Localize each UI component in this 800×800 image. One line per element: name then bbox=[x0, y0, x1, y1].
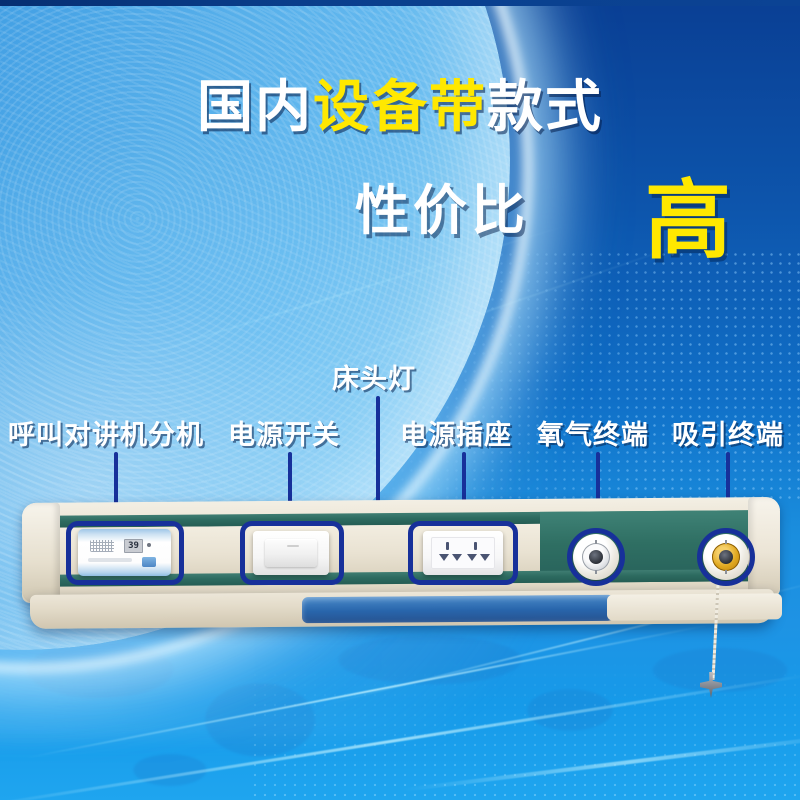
panel-end-cap-left bbox=[22, 503, 60, 603]
headline-part-domestic: 国内 bbox=[197, 75, 313, 138]
highlight-ring-oxygen bbox=[567, 528, 625, 586]
top-edge-bar bbox=[0, 0, 800, 6]
headline-line-2: 性价比 高 bbox=[0, 160, 800, 250]
callout-label-intercom: 呼叫对讲机分机 bbox=[8, 413, 204, 452]
panel-rail-white bbox=[607, 593, 782, 620]
callout-label-oxygen: 氧气终端 bbox=[537, 413, 649, 452]
callout-label-socket: 电源插座 bbox=[400, 413, 512, 452]
headline-part-style: 款式 bbox=[487, 75, 603, 138]
callout-label-switch: 电源开关 bbox=[228, 413, 340, 452]
bed-lamp-diffuser bbox=[302, 595, 614, 623]
headline-high: 高 bbox=[645, 150, 733, 275]
callout-label-suction: 吸引终端 bbox=[672, 413, 784, 452]
highlight-box-intercom bbox=[66, 521, 184, 585]
poster-canvas: 国内设备带款式 性价比 高 呼叫对讲机分机 电源开关 床头灯 电源插座 氧气终端… bbox=[0, 0, 800, 800]
highlight-box-socket bbox=[408, 521, 518, 585]
headline-value-for-money: 性价比 bbox=[355, 166, 529, 245]
highlight-box-switch bbox=[240, 521, 344, 585]
headline-line-1: 国内设备带款式 bbox=[0, 78, 800, 137]
halftone-dots-right bbox=[380, 250, 800, 500]
headline-part-equipment-belt: 设备带 bbox=[313, 75, 487, 138]
highlight-ring-suction bbox=[697, 528, 755, 586]
callout-label-bedlamp: 床头灯 bbox=[332, 357, 416, 396]
